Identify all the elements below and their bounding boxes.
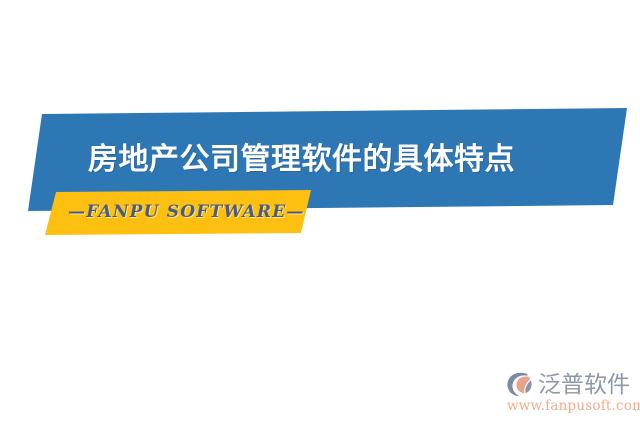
fanpu-swoosh-icon bbox=[505, 371, 535, 399]
slide-subtitle: —FANPU SOFTWARE— bbox=[68, 199, 305, 225]
slide-canvas: 房地产公司管理软件的具体特点 —FANPU SOFTWARE— 泛普软件 www… bbox=[0, 0, 640, 427]
logo-wordmark: 泛普软件 bbox=[538, 371, 630, 399]
logo-url: www.fanpusoft.com bbox=[507, 398, 640, 414]
logo-row: 泛普软件 bbox=[505, 370, 630, 400]
slide-title: 房地产公司管理软件的具体特点 bbox=[88, 136, 558, 184]
brand-logo: 泛普软件 www.fanpusoft.com bbox=[505, 370, 635, 422]
